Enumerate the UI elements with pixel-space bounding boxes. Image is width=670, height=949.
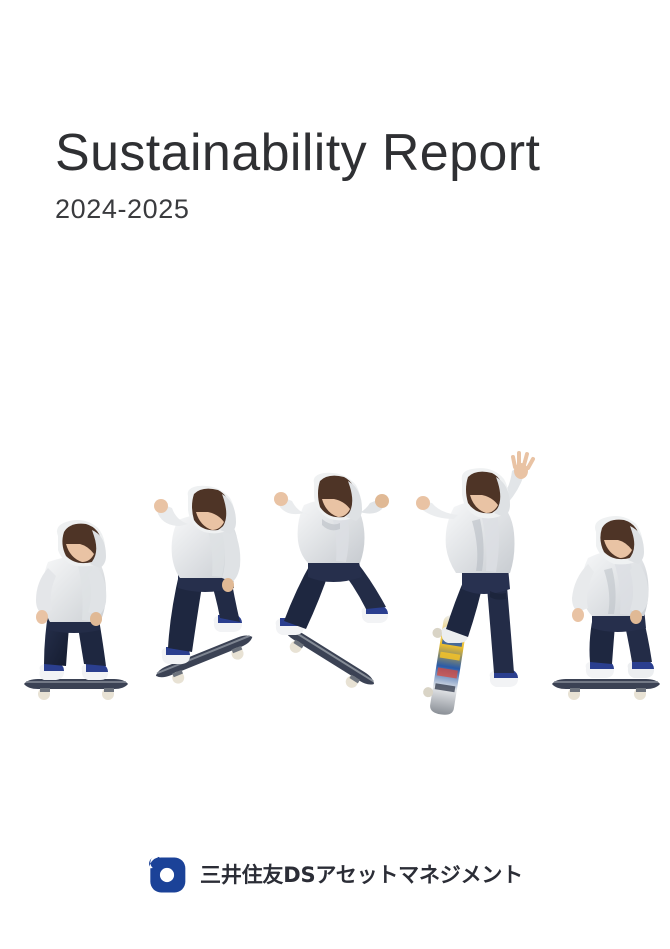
skater-frame-5-art bbox=[550, 514, 670, 709]
skater-sequence bbox=[0, 440, 670, 715]
skater-frame-3 bbox=[270, 475, 396, 703]
skater-frame-1-art bbox=[18, 514, 138, 709]
report-cover-page: Sustainability Report 2024-2025 bbox=[0, 0, 670, 949]
skater-frame-3-art bbox=[270, 475, 396, 703]
skateboard bbox=[24, 679, 128, 700]
skater-frame-4-art bbox=[414, 463, 542, 711]
skater-frame-1 bbox=[18, 514, 138, 709]
skater-frame-4 bbox=[414, 463, 542, 711]
skater-frame-2-art bbox=[148, 486, 266, 701]
sumitomo-mitsui-ds-logo-mark-icon bbox=[147, 855, 187, 895]
brand-logo-text: 三井住友DSアセットマネジメント bbox=[200, 865, 523, 886]
skater-frame-5 bbox=[550, 514, 670, 709]
brand-logo: 三井住友DSアセットマネジメント bbox=[0, 855, 670, 895]
page-title: Sustainability Report bbox=[55, 126, 615, 181]
raised-hand bbox=[513, 453, 533, 479]
cover-title-block: Sustainability Report 2024-2025 bbox=[55, 126, 615, 225]
skateboard bbox=[552, 679, 660, 700]
cover-subtitle: 2024-2025 bbox=[55, 195, 615, 225]
skater-frame-2 bbox=[148, 486, 266, 701]
